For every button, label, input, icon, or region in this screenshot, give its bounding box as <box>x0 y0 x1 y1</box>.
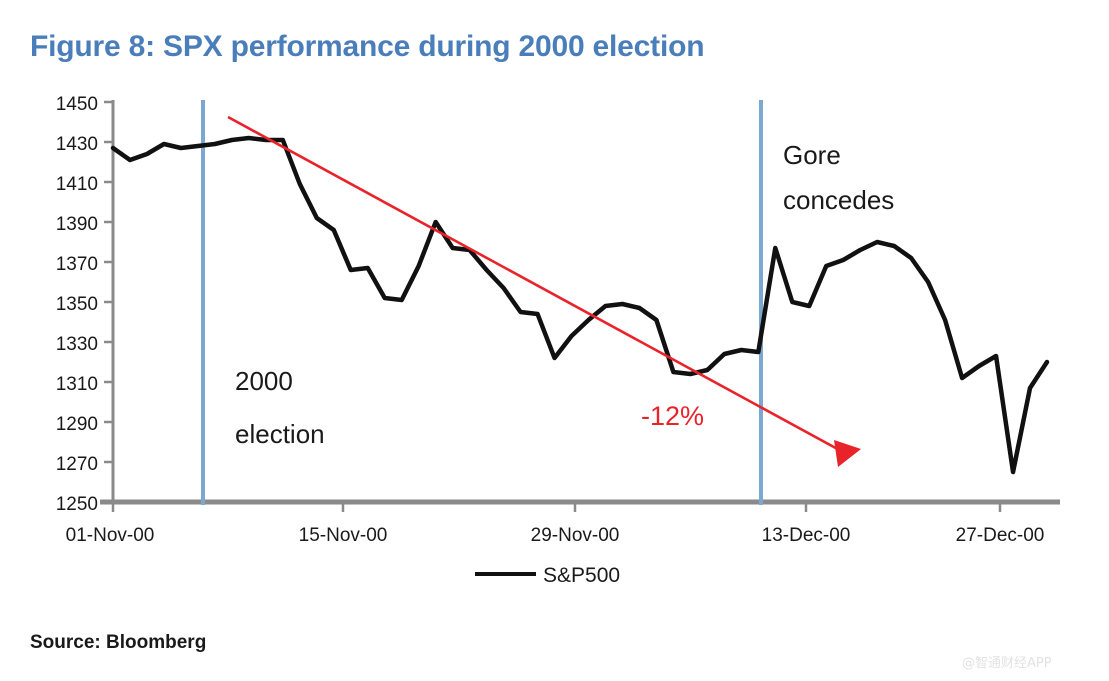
chart-legend: S&P500 <box>475 564 620 587</box>
spx-line-chart: 1450 1430 1410 1390 1370 1350 1330 1310 … <box>0 0 1109 681</box>
trend-arrow-head-icon <box>834 440 861 467</box>
y-tick-label: 1250 <box>56 494 98 515</box>
y-tick-label: 1350 <box>56 294 98 315</box>
y-axis-labels: 1450 1430 1410 1390 1370 1350 1330 1310 … <box>56 94 98 515</box>
figure-container: Figure 8: SPX performance during 2000 el… <box>0 0 1109 681</box>
annotation-election-line1: 2000 <box>235 366 293 396</box>
y-tick-label: 1390 <box>56 214 98 235</box>
source-note: Source: Bloomberg <box>30 632 206 654</box>
y-tick-label: 1290 <box>56 414 98 435</box>
y-tick-label: 1270 <box>56 454 98 475</box>
x-tick-label: 29-Nov-00 <box>531 525 620 546</box>
x-tick-label: 27-Dec-00 <box>956 525 1045 546</box>
annotation-pct-change: -12% <box>641 401 704 431</box>
annotation-election-line2: election <box>235 419 325 449</box>
annotation-gore-concedes: Gore concedes <box>783 140 894 215</box>
annotation-gore-line1: Gore <box>783 140 841 170</box>
y-tick-label: 1370 <box>56 254 98 275</box>
legend-label-sp500: S&P500 <box>543 564 620 587</box>
y-tick-label: 1410 <box>56 174 98 195</box>
annotation-gore-line2: concedes <box>783 185 894 215</box>
x-tick-label: 01-Nov-00 <box>66 525 155 546</box>
y-tick-label: 1430 <box>56 134 98 155</box>
watermark: @智通财经APP <box>962 652 1052 671</box>
x-tick-label: 15-Nov-00 <box>299 525 388 546</box>
x-tick-label: 13-Dec-00 <box>762 525 851 546</box>
y-tick-label: 1330 <box>56 334 98 355</box>
y-tick-label: 1310 <box>56 374 98 395</box>
x-axis-labels: 01-Nov-00 15-Nov-00 29-Nov-00 13-Dec-00 … <box>66 525 1045 546</box>
annotation-2000-election: 2000 election <box>235 366 325 449</box>
y-tick-label: 1450 <box>56 94 98 115</box>
trend-arrow-line <box>228 117 843 452</box>
